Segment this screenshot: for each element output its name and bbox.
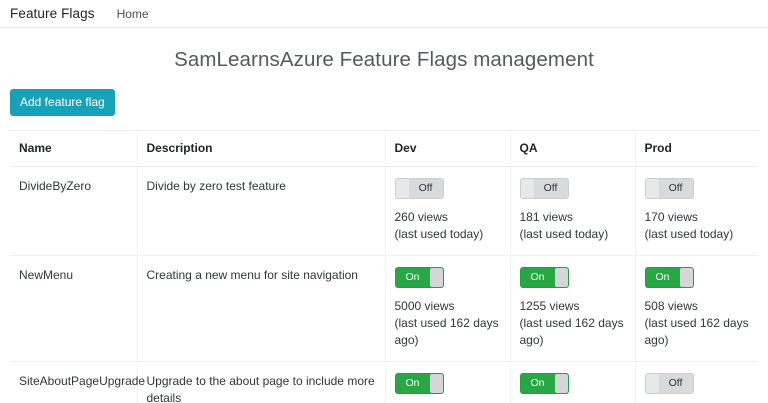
column-header-description: Description [137, 131, 385, 167]
column-header-dev: Dev [385, 131, 510, 167]
feature-flags-table-container: Name Description Dev QA Prod DivideByZer… [0, 116, 768, 403]
toggle-switch-prod[interactable]: On [645, 267, 694, 288]
toggle-switch-dev[interactable]: On [395, 267, 444, 288]
cell-env-dev: On 7 views (last used 1 days ago) [385, 362, 510, 403]
views-count: 5000 views [395, 298, 501, 315]
nav-link-home[interactable]: Home [117, 7, 149, 21]
toggle-knob-icon [521, 179, 534, 198]
toggle-switch-prod[interactable]: Off [645, 178, 694, 199]
top-navbar: Feature Flags Home [0, 0, 768, 28]
cell-env-prod: Off 0 views (never used) [635, 362, 758, 403]
toggle-knob-icon [555, 374, 568, 393]
last-used-text: (last used today) [645, 226, 750, 243]
navbar-links: Home [117, 7, 149, 21]
cell-flag-description: Upgrade to the about page to include mor… [137, 362, 385, 403]
views-count: 508 views [645, 298, 750, 315]
toolbar: Add feature flag [0, 72, 768, 116]
toggle-state-label: Off [659, 374, 693, 393]
toggle-knob-icon [396, 179, 409, 198]
column-header-qa: QA [510, 131, 635, 167]
toggle-state-label: On [521, 374, 555, 393]
table-body: DivideByZero Divide by zero test feature… [10, 167, 758, 403]
toggle-knob-icon [646, 179, 659, 198]
table-row: SiteAboutPageUpgrade Upgrade to the abou… [10, 362, 758, 403]
last-used-text: (last used today) [520, 226, 626, 243]
toggle-state-label: On [396, 268, 430, 287]
table-row: DivideByZero Divide by zero test feature… [10, 167, 758, 256]
toggle-state-label: Off [409, 179, 443, 198]
toggle-state-label: On [396, 374, 430, 393]
views-count: 1255 views [520, 298, 626, 315]
last-used-text: (last used 162 days ago) [520, 315, 626, 349]
last-used-text: (last used 162 days ago) [645, 315, 750, 349]
table-header: Name Description Dev QA Prod [10, 131, 758, 167]
toggle-knob-icon [646, 374, 659, 393]
views-count: 260 views [395, 209, 501, 226]
toggle-switch-prod[interactable]: Off [645, 373, 694, 394]
cell-flag-name: DivideByZero [10, 167, 137, 256]
page-title: SamLearnsAzure Feature Flags management [0, 48, 768, 72]
cell-flag-name: SiteAboutPageUpgrade [10, 362, 137, 403]
add-feature-flag-button[interactable]: Add feature flag [10, 89, 115, 116]
column-header-name: Name [10, 131, 137, 167]
navbar-brand[interactable]: Feature Flags [10, 6, 95, 21]
toggle-state-label: On [521, 268, 555, 287]
cell-env-prod: On 508 views (last used 162 days ago) [635, 256, 758, 362]
views-count: 170 views [645, 209, 750, 226]
toggle-knob-icon [430, 374, 443, 393]
toggle-state-label: On [646, 268, 680, 287]
cell-flag-description: Creating a new menu for site navigation [137, 256, 385, 362]
cell-flag-description: Divide by zero test feature [137, 167, 385, 256]
cell-flag-name: NewMenu [10, 256, 137, 362]
last-used-text: (last used 162 days ago) [395, 315, 501, 349]
cell-env-qa: On 1255 views (last used 162 days ago) [510, 256, 635, 362]
cell-env-dev: On 5000 views (last used 162 days ago) [385, 256, 510, 362]
views-count: 181 views [520, 209, 626, 226]
cell-env-dev: Off 260 views (last used today) [385, 167, 510, 256]
last-used-text: (last used today) [395, 226, 501, 243]
toggle-knob-icon [430, 268, 443, 287]
cell-env-qa: On 1 views (last used 1 days ago) [510, 362, 635, 403]
cell-env-qa: Off 181 views (last used today) [510, 167, 635, 256]
toggle-switch-dev[interactable]: On [395, 373, 444, 394]
table-row: NewMenu Creating a new menu for site nav… [10, 256, 758, 362]
toggle-switch-qa[interactable]: On [520, 373, 569, 394]
table-header-row: Name Description Dev QA Prod [10, 131, 758, 167]
cell-env-prod: Off 170 views (last used today) [635, 167, 758, 256]
toggle-switch-qa[interactable]: On [520, 267, 569, 288]
toggle-state-label: Off [659, 179, 693, 198]
toggle-switch-dev[interactable]: Off [395, 178, 444, 199]
toggle-switch-qa[interactable]: Off [520, 178, 569, 199]
feature-flags-table: Name Description Dev QA Prod DivideByZer… [10, 130, 758, 403]
toggle-knob-icon [555, 268, 568, 287]
toggle-state-label: Off [534, 179, 568, 198]
column-header-prod: Prod [635, 131, 758, 167]
toggle-knob-icon [680, 268, 693, 287]
